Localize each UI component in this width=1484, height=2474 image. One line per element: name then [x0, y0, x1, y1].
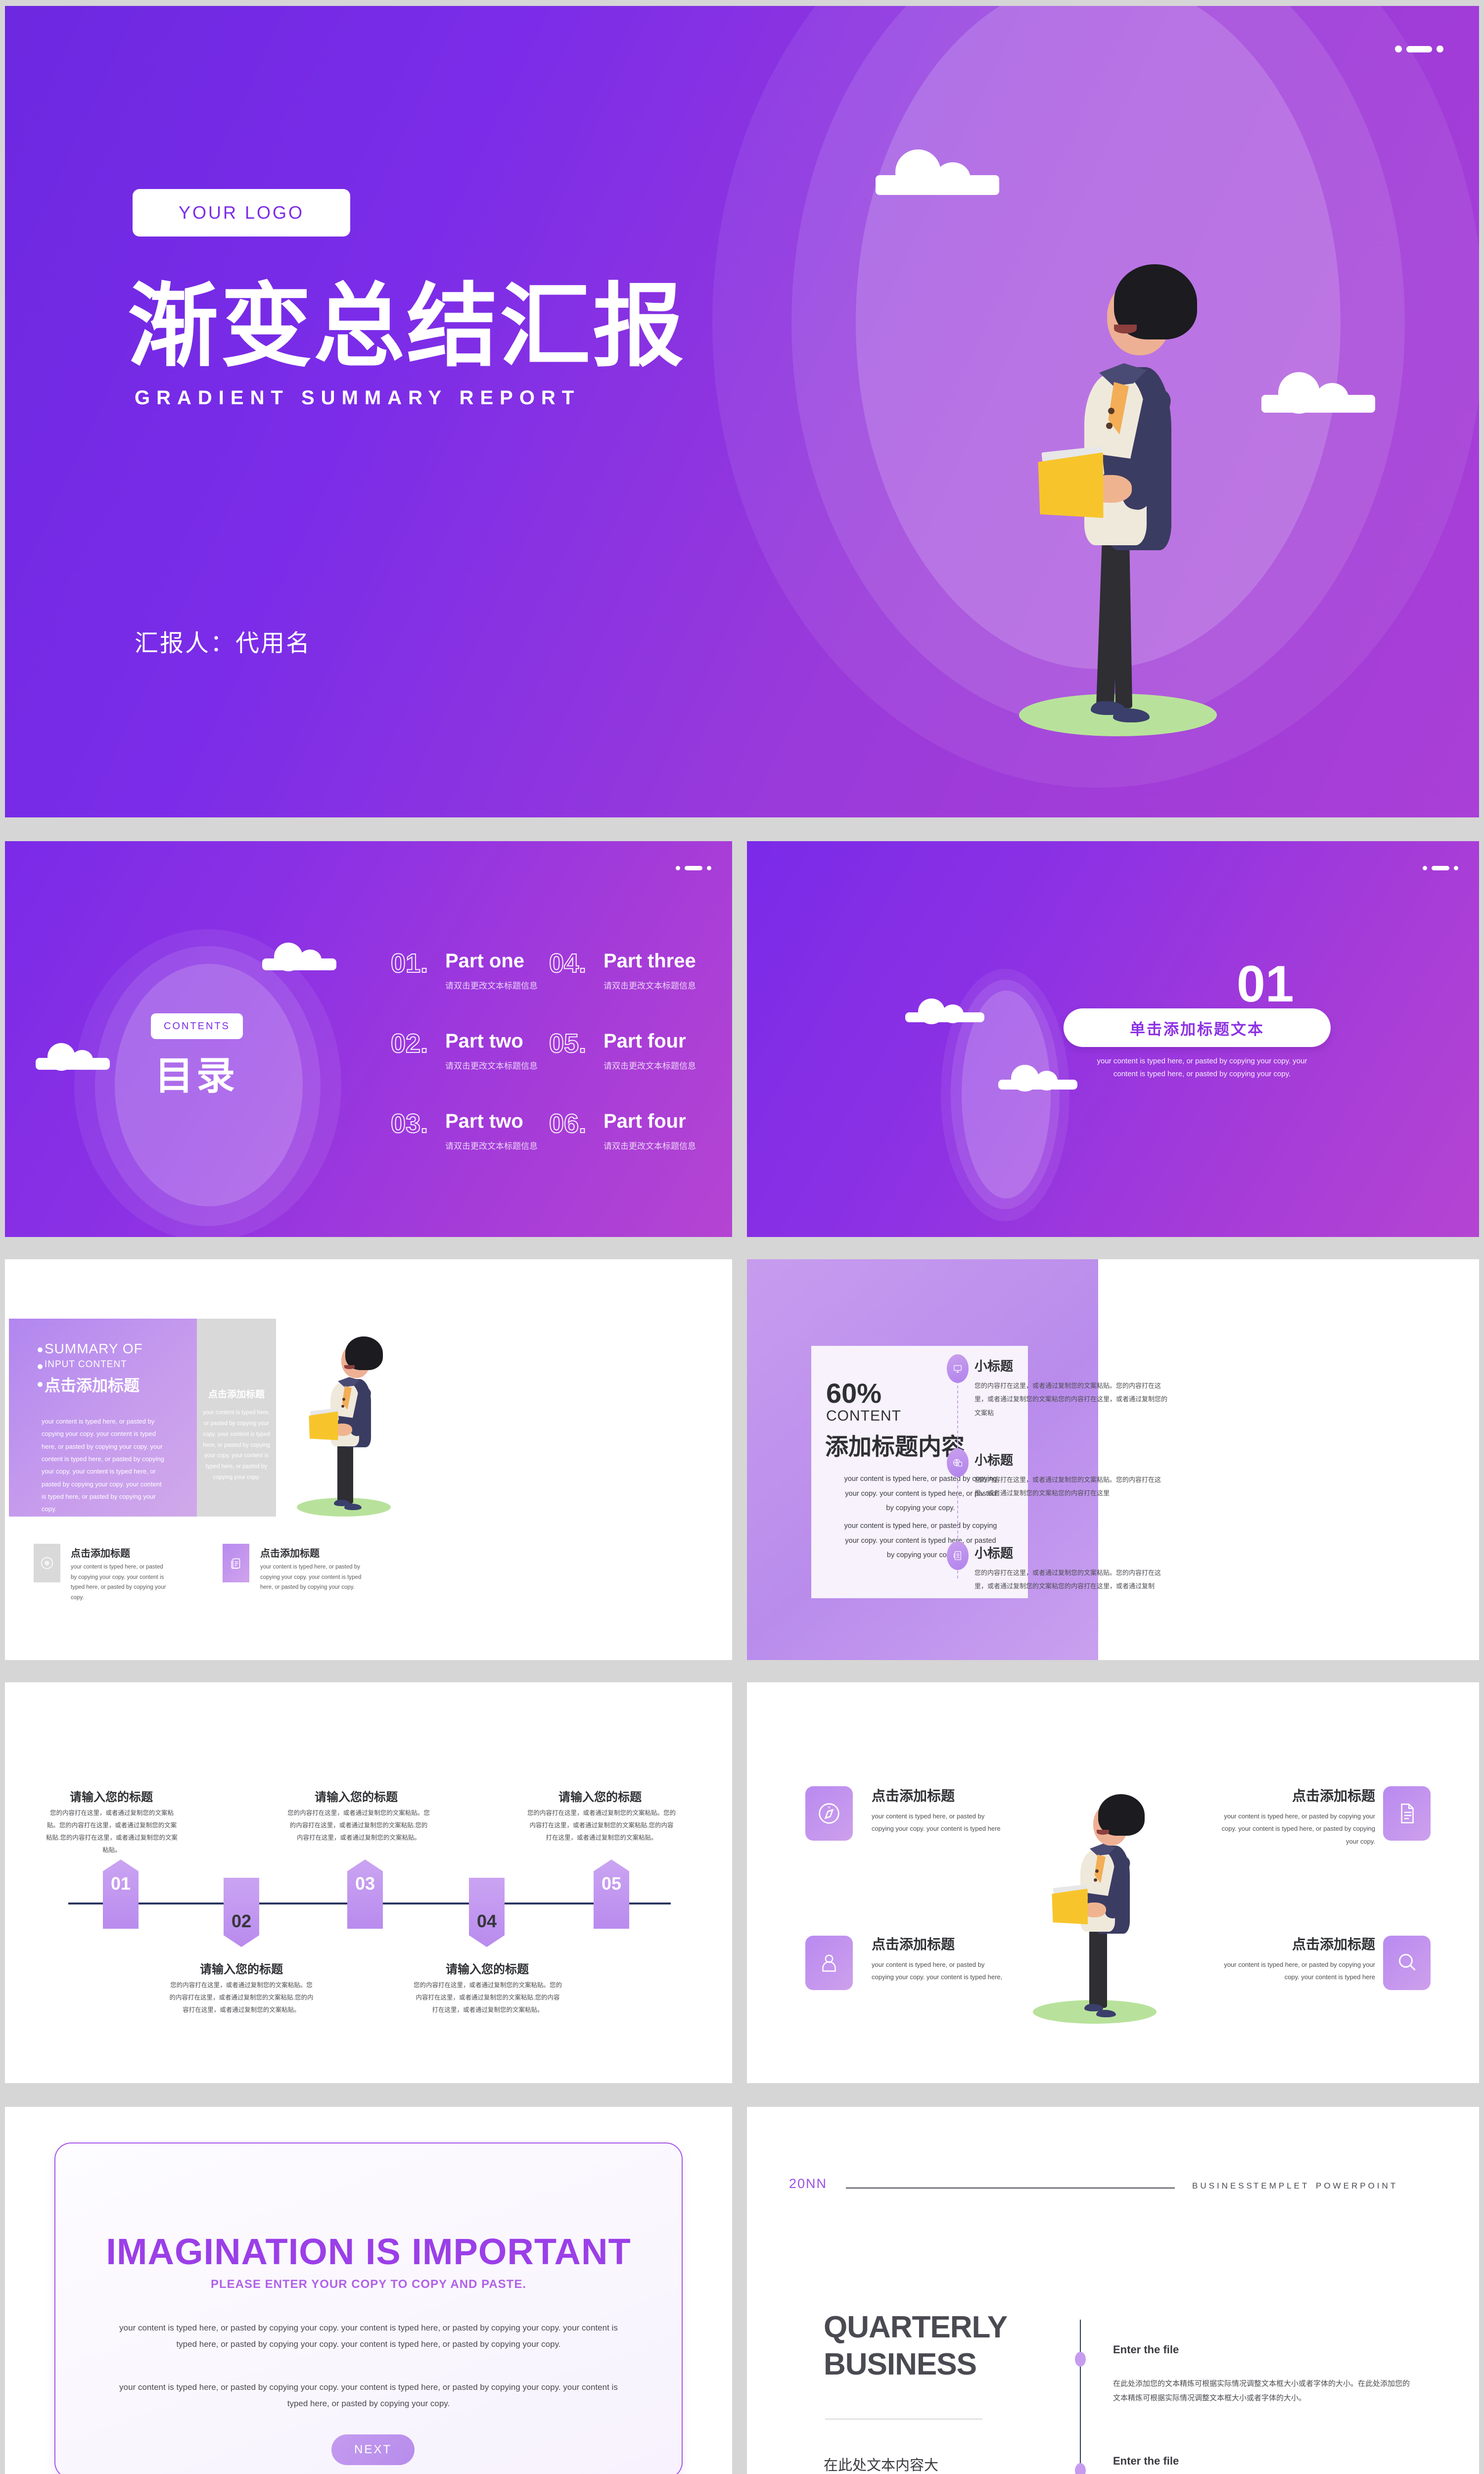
imagination-subtitle: PLEASE ENTER YOUR COPY TO COPY AND PASTE… — [5, 2278, 732, 2291]
toc-number: 01. — [391, 948, 428, 979]
person-illustration — [287, 1324, 416, 1522]
slide-quadrant[interactable]: N 点击添加标题 your content is typed here, or … — [747, 1682, 1479, 2083]
contents-chip-label: CONTENTS — [164, 1021, 230, 1032]
deco-dot-left — [676, 866, 680, 870]
toc-desc: 请双击更改文本标题信息 — [445, 1139, 538, 1151]
page-title: 渐变总结汇报 — [128, 252, 686, 384]
timeline-number-4: 04 — [477, 1893, 497, 1932]
imagination-card — [54, 2142, 683, 2474]
timeline-marker-3[interactable]: 03 — [347, 1859, 383, 1929]
toc-number: 04. — [549, 948, 586, 979]
timeline-number-2: 02 — [232, 1893, 251, 1932]
summary-bullet-2: INPUT CONTENT — [45, 1359, 127, 1370]
summary-purple-body: your content is typed here, or pasted by… — [42, 1415, 165, 1516]
stat-list-title-1: 小标题 — [974, 1356, 1013, 1375]
logo-chip[interactable]: YOUR LOGO — [133, 189, 350, 237]
cloud-icon-left — [905, 999, 984, 1022]
compass-icon: N — [805, 1786, 853, 1841]
toc-number: 02. — [391, 1028, 428, 1059]
summary-gray-title: 点击添加标题 — [203, 1387, 270, 1400]
stat-list-body-3: 您的内容打在这里，或者通过复制您的文案粘贴。您的内容打在这里，或者通过复制您的文… — [974, 1566, 1172, 1593]
slide-imagination[interactable]: IMAGINATION IS IMPORTANT PLEASE ENTER YO… — [5, 2107, 732, 2474]
quadrant-body-4: your content is typed here, or pasted by… — [1218, 1958, 1375, 1984]
section-paragraph: your content is typed here, or pasted by… — [1093, 1055, 1311, 1081]
quarterly-nav-1[interactable]: BUSINESS — [1192, 2181, 1254, 2191]
timeline-title-1: 请输入您的标题 — [40, 1787, 183, 1805]
toc-desc: 请双击更改文本标题信息 — [445, 1059, 538, 1071]
summary-card-body-2: your content is typed here, or pasted by… — [260, 1562, 364, 1593]
monitor-icon — [947, 1354, 969, 1383]
section-title-bar[interactable]: 单击添加标题文本 — [1064, 1008, 1331, 1047]
document-icon — [223, 1544, 249, 1582]
timeline-marker-4[interactable]: 04 — [469, 1878, 505, 1947]
imagination-paragraph-2: your content is typed here, or pasted by… — [111, 2379, 626, 2412]
deco-dot-right — [1437, 46, 1443, 52]
toc-title: Part four — [603, 1030, 686, 1052]
timeline-number-5: 05 — [602, 1873, 621, 1915]
timeline-marker-2[interactable]: 02 — [224, 1878, 259, 1947]
quadrant-body-1: your content is typed here, or pasted by… — [872, 1810, 1004, 1835]
imagination-paragraph-1: your content is typed here, or pasted by… — [111, 2320, 626, 2352]
summary-card-body-1: your content is typed here, or pasted by… — [71, 1562, 170, 1603]
quarterly-nav-2[interactable]: TEMPLET — [1253, 2181, 1309, 2191]
toc-desc: 请双击更改文本标题信息 — [603, 1139, 696, 1151]
quarterly-dot-1 — [1075, 2352, 1086, 2367]
cloud-icon-bottom — [998, 1065, 1077, 1090]
slide-stat[interactable]: 60% CONTENT 添加标题内容 your content is typed… — [747, 1259, 1479, 1660]
quarterly-lead: 在此处文本内容大小在此处添加您的文本。 — [824, 2453, 947, 2474]
stat-list-title-2: 小标题 — [974, 1450, 1013, 1469]
timeline-body-5: 您的内容打在这里，或者通过复制您的文案粘贴。您的内容打在这里，或者通过复制您的文… — [527, 1807, 676, 1844]
timeline-body-1: 您的内容打在这里，或者通过复制您的文案粘贴。您的内容打在这里，或者通过复制您的文… — [45, 1807, 179, 1856]
slide-cover[interactable]: YOUR LOGO 渐变总结汇报 GRADIENT SUMMARY REPORT… — [5, 6, 1479, 817]
quadrant-title-4: 点击添加标题 — [1218, 1934, 1375, 1953]
toc-title: Part three — [603, 950, 696, 972]
summary-card-title-1: 点击添加标题 — [71, 1545, 130, 1560]
title-rule — [825, 2419, 982, 2420]
stat-content-label: CONTENT — [826, 1408, 901, 1425]
timeline-title-4: 请输入您的标题 — [412, 1959, 563, 1977]
deco-dot-left — [1423, 866, 1427, 870]
toc-title: Part two — [445, 1030, 523, 1052]
timeline-body-4: 您的内容打在这里，或者通过复制您的文案粘贴。您的内容打在这里，或者通过复制您的文… — [414, 1979, 562, 2016]
contact-icon — [947, 1541, 969, 1570]
user-icon — [805, 1936, 853, 1990]
quarterly-nav-3[interactable]: POWERPOINT — [1316, 2181, 1398, 2191]
timeline-title-5: 请输入您的标题 — [524, 1787, 676, 1805]
stat-title-cn: 添加标题内容 — [825, 1427, 965, 1462]
summary-bullet-1: SUMMARY OF — [45, 1341, 143, 1357]
corner-decoration — [1423, 866, 1458, 870]
quadrant-title-3: 点击添加标题 — [872, 1934, 955, 1953]
deco-pill — [1406, 46, 1432, 52]
timeline-marker-1[interactable]: 01 — [103, 1859, 139, 1929]
slide-deck-preview: YOUR LOGO 渐变总结汇报 GRADIENT SUMMARY REPORT… — [0, 0, 1484, 2474]
toc-title: Part four — [603, 1110, 686, 1133]
contents-chip[interactable]: CONTENTS — [151, 1013, 243, 1039]
timeline-number-3: 03 — [355, 1873, 375, 1915]
person-illustration — [989, 219, 1247, 758]
quarterly-timeline-axis — [1080, 2320, 1081, 2474]
cloud-icon-top — [876, 149, 999, 194]
timeline-number-1: 01 — [111, 1873, 131, 1915]
timeline-marker-5[interactable]: 05 — [594, 1859, 629, 1929]
person-illustration — [1024, 1776, 1202, 2034]
slide-section-divider[interactable]: 01 单击添加标题文本 your content is typed here, … — [747, 841, 1479, 1237]
timeline-body-2: 您的内容打在这里，或者通过复制您的文案粘贴。您的内容打在这里，或者通过复制您的文… — [168, 1979, 315, 2016]
quarterly-title-line1: QUARTERLY — [824, 2310, 1007, 2345]
logo-text: YOUR LOGO — [179, 202, 304, 223]
section-title-text: 单击添加标题文本 — [1130, 1017, 1264, 1039]
toc-number: 03. — [391, 1108, 428, 1139]
slide-timeline[interactable]: 请输入您的标题 您的内容打在这里，或者通过复制您的文案粘贴。您的内容打在这里，或… — [5, 1682, 732, 2083]
toc-number: 06. — [549, 1108, 586, 1139]
corner-decoration — [1395, 46, 1443, 52]
bullet-dot-1 — [38, 1347, 43, 1352]
toc-desc: 请双击更改文本标题信息 — [445, 979, 538, 991]
stat-percent: 60% — [826, 1377, 881, 1409]
timeline-body-3: 您的内容打在这里，或者通过复制您的文案粘贴。您的内容打在这里，或者通过复制您的文… — [287, 1807, 430, 1844]
deco-dot-right — [1454, 866, 1458, 870]
section-number: 01 — [1237, 955, 1294, 1014]
timeline-title-2: 请输入您的标题 — [167, 1959, 316, 1977]
next-button[interactable]: NEXT — [331, 2434, 415, 2465]
toc-heading: 目录 — [155, 1045, 238, 1100]
stat-list-body-2: 您的内容打在这里，或者通过复制您的文案粘贴。您的内容打在这里，或者通过复制您的文… — [974, 1473, 1172, 1500]
page-subtitle: GRADIENT SUMMARY REPORT — [135, 387, 580, 409]
stat-list-body-1: 您的内容打在这里，或者通过复制您的文案粘贴。您的内容打在这里，或者通过复制您的文… — [974, 1379, 1172, 1420]
summary-card-title-2: 点击添加标题 — [260, 1545, 320, 1560]
disc-icon — [34, 1544, 60, 1582]
quarterly-entry-title-2: Enter the file — [1113, 2455, 1179, 2468]
slide-table-of-contents[interactable]: CONTENTS 目录 01. Part one 请双击更改文本标题信息 02.… — [5, 841, 732, 1237]
corner-decoration — [676, 866, 711, 870]
toc-desc: 请双击更改文本标题信息 — [603, 979, 696, 991]
quarterly-dot-2 — [1075, 2463, 1086, 2474]
quarterly-year: 20NN — [789, 2176, 827, 2191]
quarterly-title-line2: BUSINESS — [824, 2347, 976, 2382]
quarterly-entry-title-1: Enter the file — [1113, 2343, 1179, 2356]
cloud-icon-top — [262, 943, 336, 970]
toc-title: Part one — [445, 950, 524, 972]
deco-dot-right — [707, 866, 711, 870]
next-button-label: NEXT — [354, 2443, 392, 2457]
deco-pill — [1432, 866, 1449, 870]
slide-quarterly[interactable]: 20NN BUSINESS TEMPLET POWERPOINT QUARTER… — [747, 2107, 1479, 2474]
header-rule — [846, 2188, 1175, 2189]
quadrant-title-1: 点击添加标题 — [872, 1785, 955, 1805]
slide-summary[interactable]: SUMMARY OF INPUT CONTENT 点击添加标题 your con… — [5, 1259, 732, 1660]
deco-pill — [685, 866, 702, 870]
summary-gray-body: your content is typed here, or pasted by… — [203, 1408, 270, 1483]
stat-list-title-3: 小标题 — [974, 1543, 1013, 1562]
toc-number: 05. — [549, 1028, 586, 1059]
bullet-dot-2 — [38, 1364, 43, 1369]
globe-icon — [947, 1448, 969, 1477]
quadrant-title-2: 点击添加标题 — [1218, 1785, 1375, 1805]
presenter-line: 汇报人：代用名 — [135, 623, 311, 658]
svg-text:N: N — [828, 1806, 831, 1809]
quadrant-body-2: your content is typed here, or pasted by… — [1218, 1810, 1375, 1848]
quadrant-body-3: your content is typed here, or pasted by… — [872, 1958, 1004, 1984]
quarterly-entry-body-1: 在此处添加您的文本精炼可根据实际情况调整文本框大小或者字体的大小。在此处添加您的… — [1113, 2377, 1410, 2406]
document-icon — [1383, 1786, 1431, 1841]
summary-bullet-3: 点击添加标题 — [45, 1373, 139, 1396]
imagination-title: IMAGINATION IS IMPORTANT — [5, 2231, 732, 2273]
toc-desc: 请双击更改文本标题信息 — [603, 1059, 696, 1071]
timeline-title-3: 请输入您的标题 — [282, 1787, 430, 1805]
cloud-icon-right — [1261, 372, 1375, 413]
cloud-icon-left — [36, 1043, 110, 1070]
deco-dot-left — [1395, 46, 1402, 52]
bullet-dot-3 — [38, 1382, 43, 1387]
search-icon — [1383, 1936, 1431, 1990]
toc-title: Part two — [445, 1110, 523, 1133]
